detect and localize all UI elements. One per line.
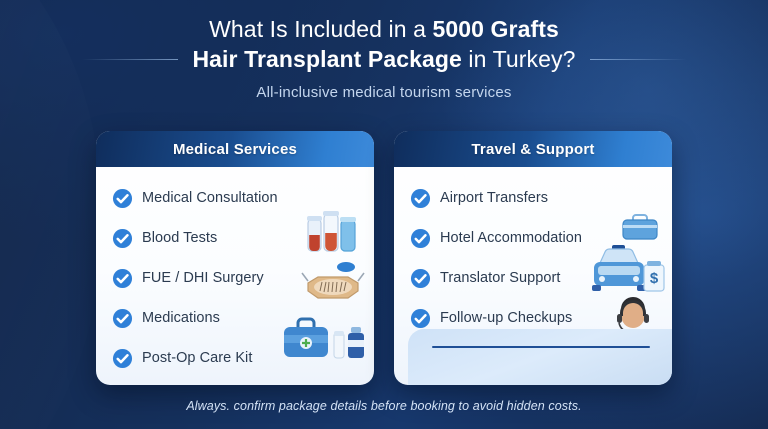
check-circle-icon — [112, 188, 133, 209]
infographic-canvas: What Is Included in a 5000 Grafts Hair T… — [0, 0, 768, 429]
check-circle-icon — [410, 188, 431, 209]
card-header-travel-support: Travel & Support — [394, 131, 672, 167]
check-circle-icon — [410, 268, 431, 289]
list-item-label: Follow-up Checkups — [440, 310, 572, 326]
page-title-line-2-row: Hair Transplant Package in Turkey? — [0, 44, 768, 74]
check-circle-icon — [112, 308, 133, 329]
list-item-label: Blood Tests — [142, 230, 217, 246]
check-circle-icon — [410, 228, 431, 249]
check-circle-icon — [112, 348, 133, 369]
card-medical-services: Medical Services — [96, 131, 374, 385]
list-item: FUE / DHI Surgery — [112, 258, 364, 298]
list-item: Follow-up Checkups — [410, 298, 662, 338]
panel-divider-line — [432, 346, 650, 348]
title-text-normal: What Is Included in a — [209, 16, 432, 42]
list-item: Medications — [112, 298, 364, 338]
card-header-medical-services: Medical Services — [96, 131, 374, 167]
title-divider-right — [590, 59, 686, 60]
page-title-line-1: What Is Included in a 5000 Grafts — [0, 14, 768, 44]
item-list-travel-support: Airport Transfers Hotel Accommodation Tr… — [394, 178, 672, 338]
cards-container: Medical Services — [96, 131, 672, 385]
list-item: Translator Support — [410, 258, 662, 298]
list-item-label: Hotel Accommodation — [440, 230, 582, 246]
title-text-normal-turkey: in Turkey? — [462, 46, 576, 72]
item-list-medical-services: Medical Consultation Blood Tests FUE / D… — [96, 178, 374, 378]
list-item-label: FUE / DHI Surgery — [142, 270, 264, 286]
list-item: Hotel Accommodation — [410, 218, 662, 258]
card-travel-support: Travel & Support — [394, 131, 672, 385]
check-circle-icon — [112, 268, 133, 289]
header: What Is Included in a 5000 Grafts Hair T… — [0, 14, 768, 101]
check-circle-icon — [410, 308, 431, 329]
title-divider-left — [82, 59, 178, 60]
page-title-line-2: Hair Transplant Package in Turkey? — [192, 44, 575, 74]
list-item-label: Medical Consultation — [142, 190, 278, 206]
list-item-label: Medications — [142, 310, 220, 326]
title-text-emphasis-package: Hair Transplant Package — [192, 46, 461, 72]
list-item-label: Post-Op Care Kit — [142, 350, 252, 366]
card-body-travel-support: $ — [394, 167, 672, 385]
page-subtitle: All-inclusive medical tourism services — [0, 84, 768, 101]
list-item-label: Translator Support — [440, 270, 560, 286]
check-circle-icon — [112, 228, 133, 249]
title-text-emphasis-grafts: 5000 Grafts — [432, 16, 558, 42]
list-item: Airport Transfers — [410, 178, 662, 218]
list-item: Post-Op Care Kit — [112, 338, 364, 378]
list-item: Medical Consultation — [112, 178, 364, 218]
card-body-medical-services: Medical Consultation Blood Tests FUE / D… — [96, 167, 374, 385]
footer-note: Always. confirm package details before b… — [0, 399, 768, 413]
list-item: Blood Tests — [112, 218, 364, 258]
list-item-label: Airport Transfers — [440, 190, 548, 206]
